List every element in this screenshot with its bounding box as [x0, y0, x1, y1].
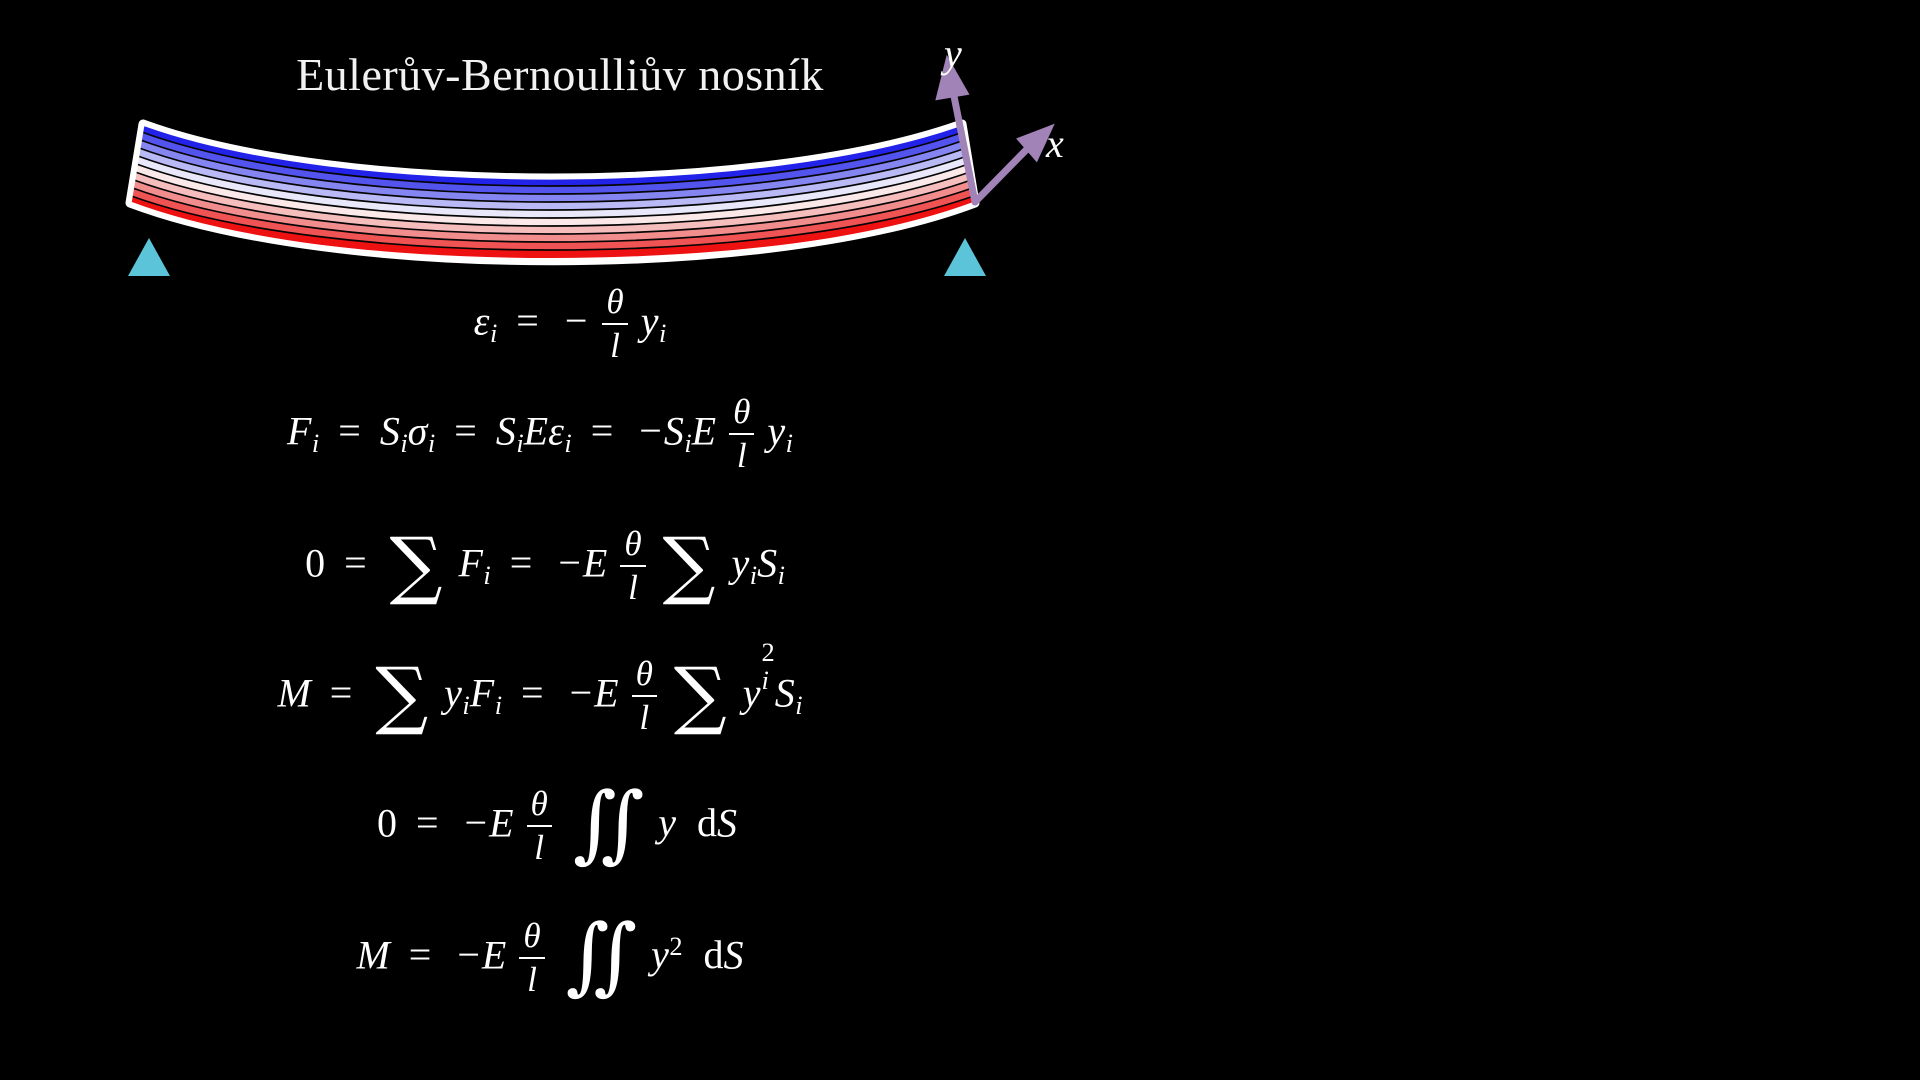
eq2-equals-2: = — [445, 408, 486, 453]
eq2-frac-denominator: l — [729, 436, 754, 473]
eq2-E-2: E — [692, 408, 716, 453]
eq3-frac-denominator: l — [620, 568, 645, 605]
eq2-S2-sub: i — [516, 428, 523, 458]
equation-row-force-equilibrium: 0 = ∑ Fi = −E θ l ∑ yiSi — [0, 528, 1300, 658]
axis-label-x: x — [1046, 120, 1064, 167]
eq5-zero: 0 — [377, 800, 397, 845]
eq3-F: F — [458, 540, 482, 585]
eq4-M: M — [277, 670, 310, 715]
eq5-minus: − — [458, 800, 490, 845]
eq6-E: E — [482, 932, 506, 977]
eq6-minus: − — [450, 932, 482, 977]
eq4-equals-1: = — [321, 670, 362, 715]
equation-force-equilibrium: 0 = ∑ Fi = −E θ l ∑ yiSi — [305, 528, 785, 606]
eq6-frac-denominator: l — [519, 960, 544, 997]
eq3-y-sub: i — [750, 560, 757, 590]
eq2-minus: − — [632, 408, 664, 453]
eq6-S: S — [724, 932, 744, 977]
eq2-S-1: S — [380, 408, 400, 453]
eq2-S3-sub: i — [684, 428, 691, 458]
eq6-differential-d: d — [704, 932, 724, 977]
eq6-double-integral: ∬ — [566, 934, 627, 980]
beam-figure — [0, 0, 1160, 290]
eq5-E: E — [489, 800, 513, 845]
eq4-equals-2: = — [512, 670, 553, 715]
eq1-y: y — [641, 298, 659, 343]
eq2-E-1: E — [524, 408, 548, 453]
eq6-M: M — [356, 932, 389, 977]
eq1-y-sub: i — [659, 318, 666, 348]
eq4-sum-1: ∑ — [375, 673, 428, 719]
eq3-fraction-theta-over-l: θ l — [620, 526, 645, 604]
eq4-S: S — [775, 670, 795, 715]
eq1-minus: − — [558, 298, 590, 343]
eq4-minus: − — [563, 670, 595, 715]
eq3-frac-numerator: θ — [620, 526, 645, 563]
eq1-equals: = — [507, 298, 548, 343]
axis-label-y: y — [944, 30, 962, 77]
eq1-epsilon: ε — [474, 298, 490, 343]
equation-list: εi = − θ l yi Fi = Siσi = SiEεi = −SiE θ… — [0, 286, 1300, 1040]
eq4-F: F — [470, 670, 494, 715]
eq4-y-2: y — [743, 670, 761, 715]
support-right — [944, 238, 986, 276]
equation-moment-sum: M = ∑ yiFi = −E θ l ∑ y2iSi — [277, 658, 802, 736]
eq3-zero: 0 — [305, 540, 325, 585]
eq2-S-2: S — [496, 408, 516, 453]
eq4-frac-numerator: θ — [632, 656, 657, 693]
eq3-E: E — [583, 540, 607, 585]
equation-row-strain: εi = − θ l yi — [0, 286, 1300, 396]
eq2-equals-1: = — [329, 408, 370, 453]
eq2-sigma-sub: i — [428, 428, 435, 458]
eq5-frac-bar — [527, 825, 552, 827]
eq4-y2-subsup: 2i — [762, 658, 775, 711]
eq2-F: F — [287, 408, 311, 453]
eq2-sigma: σ — [408, 408, 428, 453]
eq5-S: S — [717, 800, 737, 845]
eq4-frac-denominator: l — [632, 698, 657, 735]
eq6-y: y — [651, 932, 669, 977]
eq2-fraction-theta-over-l: θ l — [729, 394, 754, 472]
eq4-frac-bar — [632, 695, 657, 697]
eq4-sum-2: ∑ — [674, 673, 727, 719]
eq2-epsilon: ε — [548, 408, 564, 453]
eq3-S: S — [757, 540, 777, 585]
eq5-equals: = — [407, 800, 448, 845]
beam-svg — [0, 0, 1160, 290]
eq2-frac-numerator: θ — [729, 394, 754, 431]
equation-second-moment-integral: M = −E θ l ∬ y2 dS — [356, 920, 743, 998]
eq4-y-1: y — [444, 670, 462, 715]
equation-row-fibre-force: Fi = Siσi = SiEεi = −SiE θ l yi — [0, 396, 1300, 528]
eq3-equals-1: = — [335, 540, 376, 585]
eq2-y-sub: i — [786, 428, 793, 458]
eq3-sum-2: ∑ — [663, 543, 716, 589]
eq4-fraction-theta-over-l: θ l — [632, 656, 657, 734]
eq2-S-3: S — [664, 408, 684, 453]
eq2-F-sub: i — [312, 428, 319, 458]
eq4-y2-exponent: 2 — [762, 639, 775, 665]
equation-strain: εi = − θ l yi — [474, 286, 667, 364]
eq5-frac-denominator: l — [527, 828, 552, 865]
eq4-E: E — [594, 670, 618, 715]
eq3-S-sub: i — [778, 560, 785, 590]
eq3-minus: − — [551, 540, 583, 585]
support-left — [128, 238, 170, 276]
eq2-y: y — [767, 408, 785, 453]
eq4-S-sub: i — [795, 690, 802, 720]
eq3-equals-2: = — [501, 540, 542, 585]
eq2-S1-sub: i — [400, 428, 407, 458]
eq3-sum-1: ∑ — [390, 543, 443, 589]
eq5-frac-numerator: θ — [527, 786, 552, 823]
eq5-fraction-theta-over-l: θ l — [527, 786, 552, 864]
eq5-y: y — [658, 800, 676, 845]
eq3-y: y — [731, 540, 749, 585]
eq4-y2-sub: i — [762, 667, 775, 693]
eq5-differential-d: d — [697, 800, 717, 845]
equation-first-moment-integral: 0 = −E θ l ∬ y dS — [377, 788, 737, 866]
eq2-eps-sub: i — [564, 428, 571, 458]
equation-row-second-moment-integral: M = −E θ l ∬ y2 dS — [0, 920, 1300, 1040]
eq2-equals-3: = — [582, 408, 623, 453]
equation-fibre-force: Fi = Siσi = SiEεi = −SiE θ l yi — [287, 396, 793, 474]
eq5-double-integral: ∬ — [573, 802, 634, 848]
eq3-F-sub: i — [483, 560, 490, 590]
eq1-frac-numerator: θ — [602, 284, 627, 321]
eq2-frac-bar — [729, 433, 754, 435]
eq6-y-exponent: 2 — [669, 931, 682, 961]
equation-row-first-moment-integral: 0 = −E θ l ∬ y dS — [0, 788, 1300, 920]
eq4-y1-sub: i — [462, 690, 469, 720]
eq1-epsilon-sub: i — [490, 318, 497, 348]
eq1-frac-bar — [602, 323, 627, 325]
eq1-frac-denominator: l — [602, 326, 627, 363]
equation-row-moment-sum: M = ∑ yiFi = −E θ l ∑ y2iSi — [0, 658, 1300, 788]
eq6-frac-bar — [519, 957, 544, 959]
eq6-frac-numerator: θ — [519, 918, 544, 955]
eq6-equals: = — [400, 932, 441, 977]
axis-x-line — [975, 146, 1030, 202]
eq3-frac-bar — [620, 565, 645, 567]
eq6-fraction-theta-over-l: θ l — [519, 918, 544, 996]
eq1-fraction-theta-over-l: θ l — [602, 284, 627, 362]
eq4-F-sub: i — [495, 690, 502, 720]
